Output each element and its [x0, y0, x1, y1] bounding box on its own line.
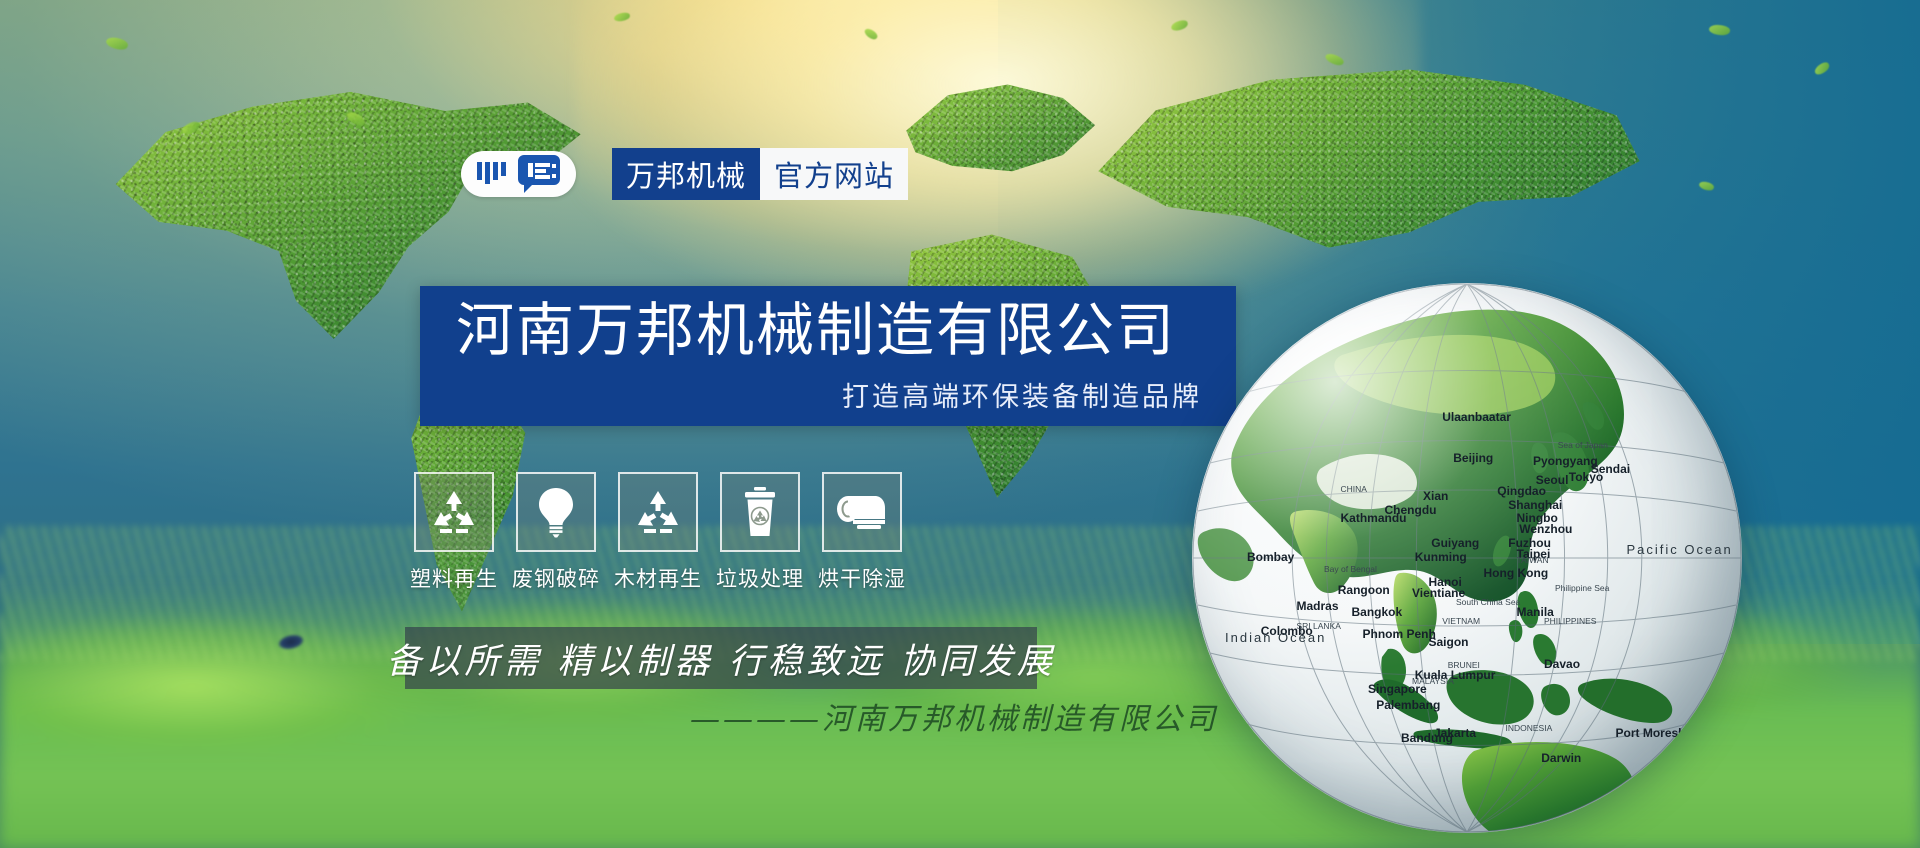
company-tagline: 打造高端环保装备制造品牌: [842, 375, 1202, 414]
globe-city-label: Beijing: [1453, 451, 1493, 465]
globe-city-label: Qingdao: [1497, 484, 1546, 498]
service-label: 塑料再生: [410, 563, 498, 593]
globe-city-label: Shanghai: [1508, 498, 1562, 512]
promo-banner: 万邦机械 官方网站 河南万邦机械制造有限公司 打造高端环保装备制造品牌 塑料再生: [0, 0, 1920, 848]
service-item-waste-treatment[interactable]: 垃圾处理: [722, 472, 798, 593]
globe-city-label: Madras: [1297, 599, 1339, 613]
service-label: 烘干除湿: [818, 563, 906, 593]
globe-city-label: Pyongyang: [1533, 454, 1598, 468]
globe-city-label: Kathmandu: [1341, 511, 1407, 525]
service-icon-box: [618, 472, 698, 552]
leaf-fleck: [614, 12, 631, 22]
globe-sphere: BeijingUlaanbaatarPyongyangSeoulTokyoSen…: [1192, 283, 1742, 833]
tab-company-short-name[interactable]: 万邦机械: [612, 148, 760, 200]
globe-region-label: TAIWAN: [1517, 555, 1549, 565]
service-label: 废钢破碎: [512, 563, 600, 593]
slogan-bar: 备以所需 精以制器 行稳致远 协同发展: [405, 627, 1037, 689]
globe-region-label: MALAYSIA: [1412, 676, 1454, 686]
recycle-icon: [430, 489, 478, 535]
globe-ocean-label: Indian Ocean: [1225, 630, 1326, 645]
globe-city-label: Palembang: [1376, 698, 1440, 712]
slogan-text: 备以所需 精以制器 行稳致远 协同发展: [386, 633, 1055, 684]
globe-region-label: South China Sea: [1456, 597, 1520, 607]
globe-city-label: Bangkok: [1352, 605, 1403, 619]
globe-region-label: Sea of Japan: [1558, 440, 1608, 450]
globe-city-label: Hong Kong: [1484, 566, 1549, 580]
lightbulb-icon: [534, 486, 578, 538]
service-icon-box: [822, 472, 902, 552]
globe-city-label: Rangoon: [1338, 583, 1390, 597]
globe-city-label: Bombay: [1247, 550, 1294, 564]
company-name-title: 河南万邦机械制造有限公司: [456, 295, 1176, 368]
service-icon-box: [516, 472, 596, 552]
leaf-continent-asia: [1075, 59, 1651, 313]
globe-city-label: Sendai: [1591, 462, 1630, 476]
service-item-scrap-steel-crushing[interactable]: 废钢破碎: [518, 472, 594, 593]
brand-tab-group: 万邦机械 官方网站: [612, 148, 908, 200]
globe-ocean-label: Pacific Ocean: [1627, 542, 1733, 557]
logo-w-icon: [475, 160, 509, 188]
globe-city-label: Bandung: [1401, 731, 1453, 745]
dryer-machine-icon: [835, 493, 889, 531]
leaf-fleck: [1324, 51, 1345, 67]
title-block: 河南万邦机械制造有限公司 打造高端环保装备制造品牌: [420, 286, 1236, 426]
globe-region-label: Bay of Bengal: [1324, 564, 1377, 574]
leaf-fleck: [1813, 60, 1831, 76]
service-item-drying-dehumidifying[interactable]: 烘干除湿: [824, 472, 900, 593]
logo-speech-bubble-icon: [516, 153, 562, 195]
globe-city-label: Davao: [1544, 657, 1580, 671]
service-label: 木材再生: [614, 563, 702, 593]
leaf-fleck: [104, 35, 128, 52]
globe-city-label: Port Moresby: [1616, 726, 1693, 740]
globe-region-label: PHILIPPINES: [1544, 616, 1596, 626]
leaf-fleck: [1708, 24, 1730, 37]
leaf-fleck: [1698, 180, 1715, 193]
leaf-fleck: [1170, 19, 1189, 32]
globe-region-label: BRUNEI: [1448, 660, 1480, 670]
globe-city-label: Guiyang: [1431, 536, 1479, 550]
service-item-wood-recycling[interactable]: 木材再生: [620, 472, 696, 593]
globe-city-label: Saigon: [1429, 635, 1469, 649]
leaf-fleck: [863, 26, 879, 41]
company-logo[interactable]: [461, 151, 576, 197]
service-label: 垃圾处理: [716, 563, 804, 593]
tab-official-site[interactable]: 官方网站: [760, 148, 908, 200]
leaf-continent-europe: [883, 76, 1113, 212]
globe-city-label: Wenzhou: [1519, 522, 1572, 536]
globe-region-label: CHINA: [1341, 484, 1367, 494]
globe-region-label: Philippine Sea: [1555, 583, 1609, 593]
service-icon-box: [414, 472, 494, 552]
globe-city-label: Xian: [1423, 489, 1448, 503]
globe-city-label: Darwin: [1541, 751, 1581, 765]
service-item-plastic-recycling[interactable]: 塑料再生: [416, 472, 492, 593]
slogan-signature: ————河南万邦机械制造有限公司: [690, 694, 1218, 738]
globe-region-label: INDONESIA: [1506, 723, 1553, 733]
trash-bin-icon: [740, 486, 780, 538]
service-icon-row: 塑料再生 废钢破碎: [416, 472, 900, 593]
banner-header: 万邦机械 官方网站: [461, 148, 908, 200]
service-icon-box: [720, 472, 800, 552]
globe-region-label: VIETNAM: [1442, 616, 1480, 626]
globe-city-label: Ulaanbaatar: [1442, 410, 1511, 424]
globe-city-label: Phnom Penh: [1363, 627, 1436, 641]
globe-graphic: BeijingUlaanbaatarPyongyangSeoulTokyoSen…: [1192, 283, 1742, 833]
recycle-icon: [634, 489, 682, 535]
globe-city-label: Kunming: [1415, 550, 1467, 564]
